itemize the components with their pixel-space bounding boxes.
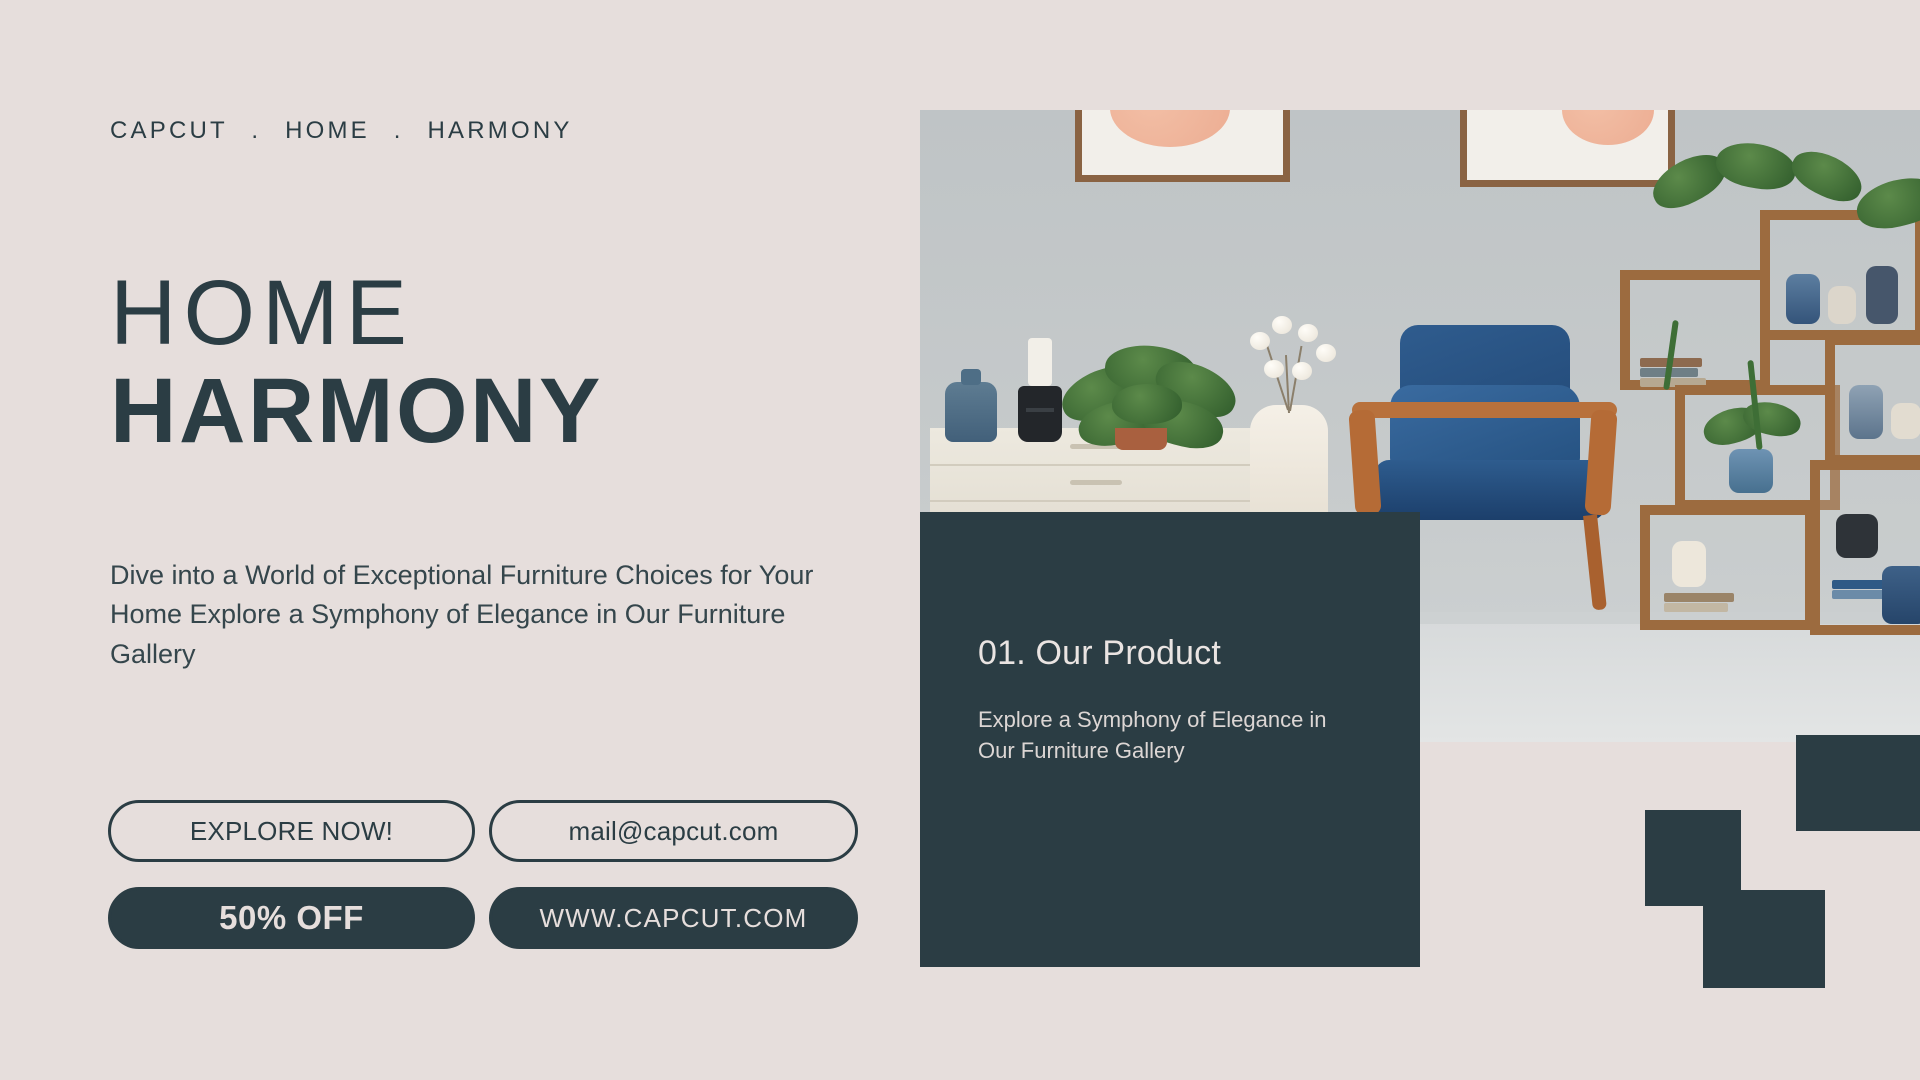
breadcrumb-item-harmony[interactable]: HARMONY [428,117,573,144]
website-button[interactable]: WWW.CAPCUT.COM [489,887,858,949]
breadcrumb-item-home[interactable]: HOME [285,117,370,144]
hero-description: Dive into a World of Exceptional Furnitu… [110,556,850,674]
white-candle [1028,338,1052,386]
title-line-home: HOME [110,268,603,358]
wooden-shelving-unit [1620,170,1920,660]
framed-art-left [1075,110,1290,182]
terracotta-pot [1115,428,1167,450]
shelf-box-1 [1620,270,1770,390]
armchair-arm-top [1352,402,1617,418]
page-title: HOME HARMONY [110,268,603,462]
decorative-square-bottom-right [1703,890,1825,988]
email-button[interactable]: mail@capcut.com [489,800,858,862]
breadcrumb-item-capcut[interactable]: CAPCUT [110,117,227,144]
product-card-body: Explore a Symphony of Elegance in Our Fu… [978,704,1353,767]
title-line-harmony: HARMONY [110,362,603,461]
breadcrumb: CAPCUT . HOME . HARMONY [110,117,573,145]
shelf-box-2 [1760,210,1920,340]
decorative-square-top-right [1796,735,1920,831]
shelf-box-5 [1640,505,1815,630]
art-blob-right [1562,110,1654,145]
armchair-seat [1375,460,1605,520]
product-overlay-card: 01. Our Product Explore a Symphony of El… [920,512,1420,967]
button-row-secondary: 50% OFF WWW.CAPCUT.COM [108,887,858,949]
shelf-box-4 [1825,335,1920,465]
breadcrumb-separator-1: . [237,117,275,144]
poster-canvas: CAPCUT . HOME . HARMONY HOME HARMONY Div… [0,0,1920,1080]
shelf-box-6 [1810,460,1920,635]
breadcrumb-separator-2: . [380,117,418,144]
product-card-title: 01. Our Product [978,634,1221,673]
discount-badge-button[interactable]: 50% OFF [108,887,475,949]
blue-vase [945,382,997,442]
explore-now-button[interactable]: EXPLORE NOW! [108,800,475,862]
art-blob-left [1110,110,1230,147]
button-row-primary: EXPLORE NOW! mail@capcut.com [108,800,858,862]
